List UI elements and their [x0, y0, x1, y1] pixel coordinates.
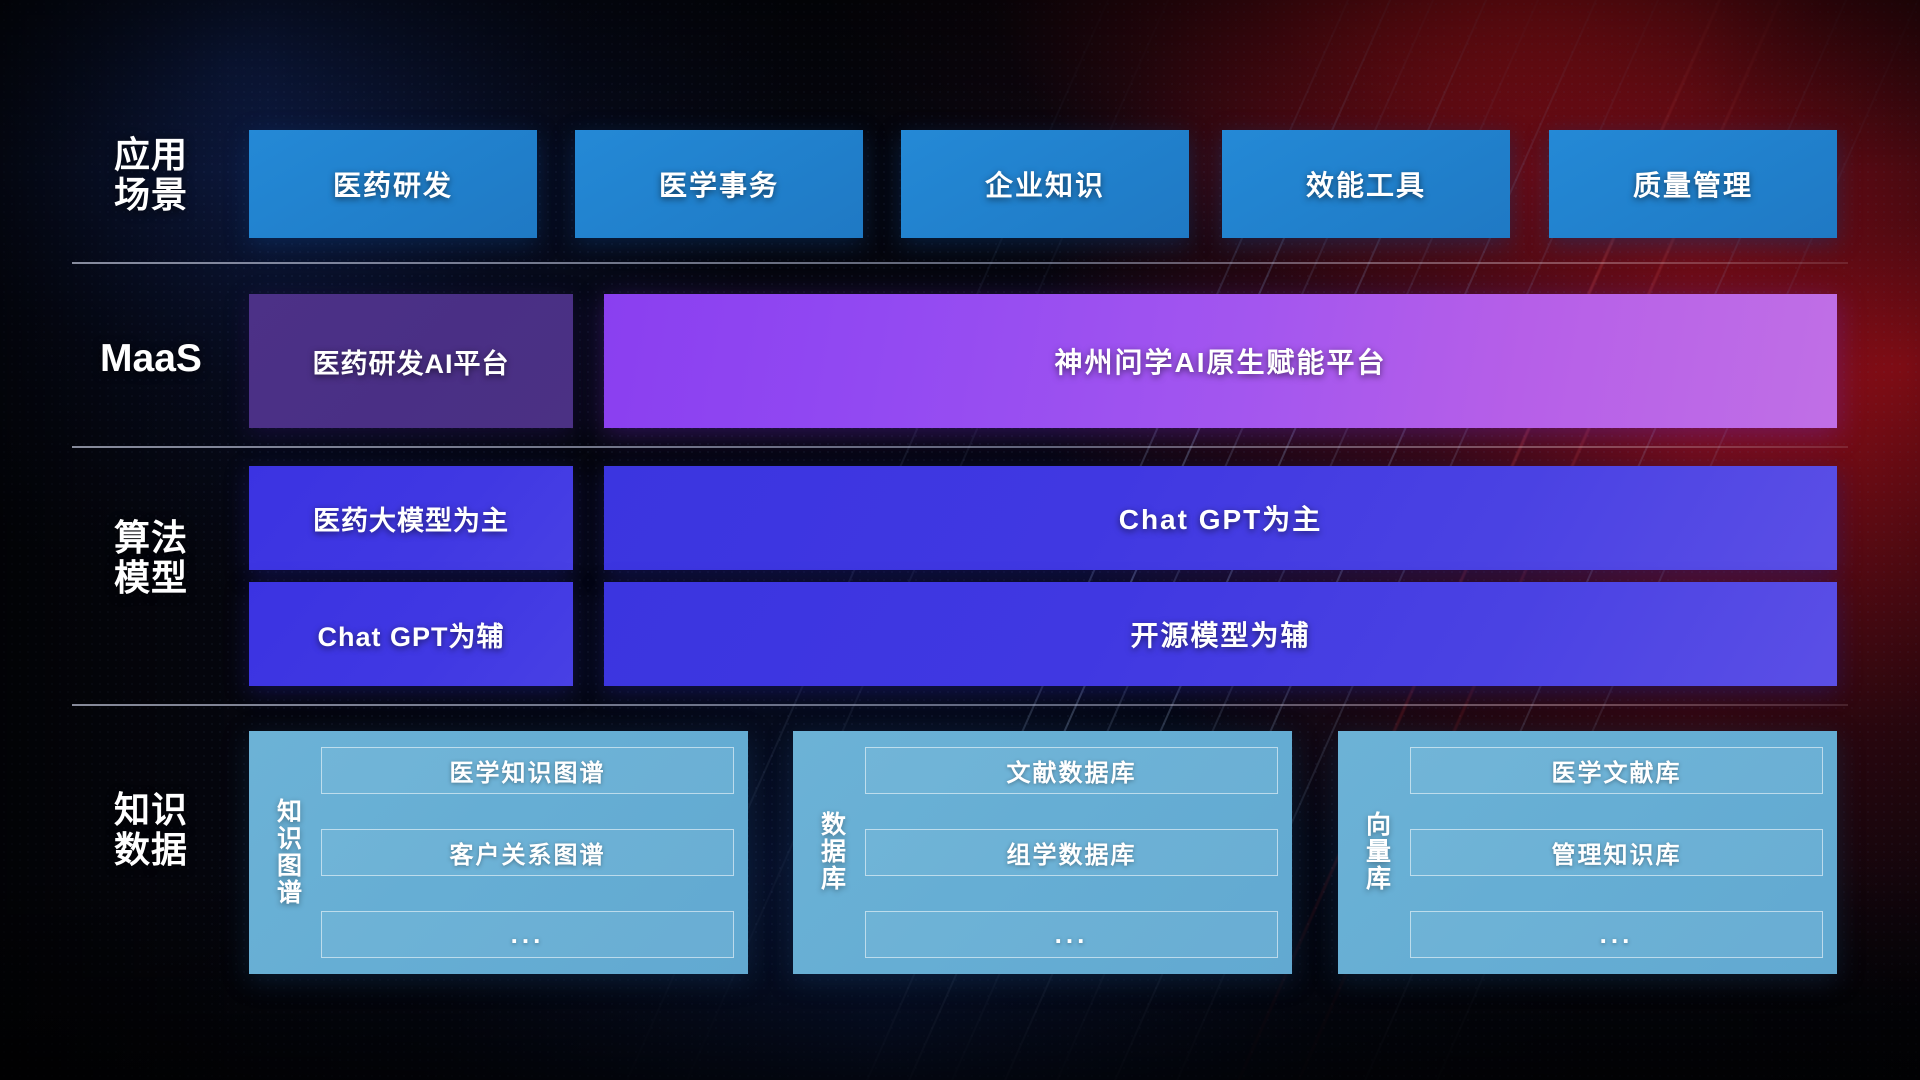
side-label-line: 向 — [1366, 812, 1392, 839]
app-scenario-card-5[interactable]: 质量管理 — [1549, 130, 1837, 238]
side-label-line: 识 — [277, 826, 303, 853]
knowledge-item[interactable]: 文献数据库 — [865, 747, 1278, 794]
knowledge-panel-items: 文献数据库 组学数据库 ... — [865, 747, 1278, 958]
side-label-line: 库 — [821, 866, 847, 893]
knowledge-panel-knowledge-graph[interactable]: 知 识 图 谱 医学知识图谱 客户关系图谱 ... — [249, 731, 748, 974]
row-label-maas: MaaS — [88, 337, 214, 381]
algorithm-secondary-left[interactable]: Chat GPT为辅 — [249, 582, 573, 686]
row-label-line: 应用 — [88, 135, 214, 175]
knowledge-item[interactable]: 组学数据库 — [865, 829, 1278, 876]
knowledge-panel-items: 医学知识图谱 客户关系图谱 ... — [321, 747, 734, 958]
side-label-line: 库 — [1366, 866, 1392, 893]
side-label-line: 图 — [277, 853, 303, 880]
knowledge-item[interactable]: 管理知识库 — [1410, 829, 1823, 876]
algorithm-primary-right[interactable]: Chat GPT为主 — [604, 466, 1837, 570]
row-label-knowledge-data: 知识 数据 — [88, 790, 214, 871]
algorithm-primary-left[interactable]: 医药大模型为主 — [249, 466, 573, 570]
knowledge-item[interactable]: 医学知识图谱 — [321, 747, 734, 794]
row-label-line: 知识 — [88, 790, 214, 830]
knowledge-panel-side-label: 知 识 图 谱 — [259, 747, 321, 958]
side-label-line: 数 — [821, 812, 847, 839]
side-label-line: 据 — [821, 839, 847, 866]
knowledge-item-more[interactable]: ... — [865, 911, 1278, 958]
app-scenario-card-1[interactable]: 医药研发 — [249, 130, 537, 238]
knowledge-panel-database[interactable]: 数 据 库 文献数据库 组学数据库 ... — [793, 731, 1292, 974]
row-label-line: 场景 — [88, 175, 214, 215]
divider-2 — [72, 446, 1848, 448]
algorithm-secondary-right[interactable]: 开源模型为辅 — [604, 582, 1837, 686]
side-label-line: 谱 — [277, 880, 303, 907]
knowledge-panel-side-label: 向 量 库 — [1348, 747, 1410, 958]
knowledge-panel-vector-store[interactable]: 向 量 库 医学文献库 管理知识库 ... — [1338, 731, 1837, 974]
maas-platform-left[interactable]: 医药研发AI平台 — [249, 294, 573, 428]
row-label-application-scenarios: 应用 场景 — [88, 135, 214, 216]
app-scenario-card-2[interactable]: 医学事务 — [575, 130, 863, 238]
app-scenario-card-3[interactable]: 企业知识 — [901, 130, 1189, 238]
knowledge-panel-items: 医学文献库 管理知识库 ... — [1410, 747, 1823, 958]
row-label-line: MaaS — [88, 337, 214, 381]
app-scenario-card-4[interactable]: 效能工具 — [1222, 130, 1510, 238]
knowledge-item-more[interactable]: ... — [321, 911, 734, 958]
knowledge-item-more[interactable]: ... — [1410, 911, 1823, 958]
side-label-line: 量 — [1366, 839, 1392, 866]
knowledge-item[interactable]: 医学文献库 — [1410, 747, 1823, 794]
maas-platform-right[interactable]: 神州问学AI原生赋能平台 — [604, 294, 1837, 428]
row-label-line: 模型 — [88, 558, 214, 598]
knowledge-item[interactable]: 客户关系图谱 — [321, 829, 734, 876]
row-label-algorithm-model: 算法 模型 — [88, 518, 214, 599]
architecture-diagram: 应用 场景 医药研发 医学事务 企业知识 效能工具 质量管理 MaaS 医药研发… — [0, 0, 1920, 1080]
row-label-line: 算法 — [88, 518, 214, 558]
row-label-line: 数据 — [88, 830, 214, 870]
divider-1 — [72, 262, 1848, 264]
divider-3 — [72, 704, 1848, 706]
knowledge-panel-side-label: 数 据 库 — [803, 747, 865, 958]
side-label-line: 知 — [277, 799, 303, 826]
